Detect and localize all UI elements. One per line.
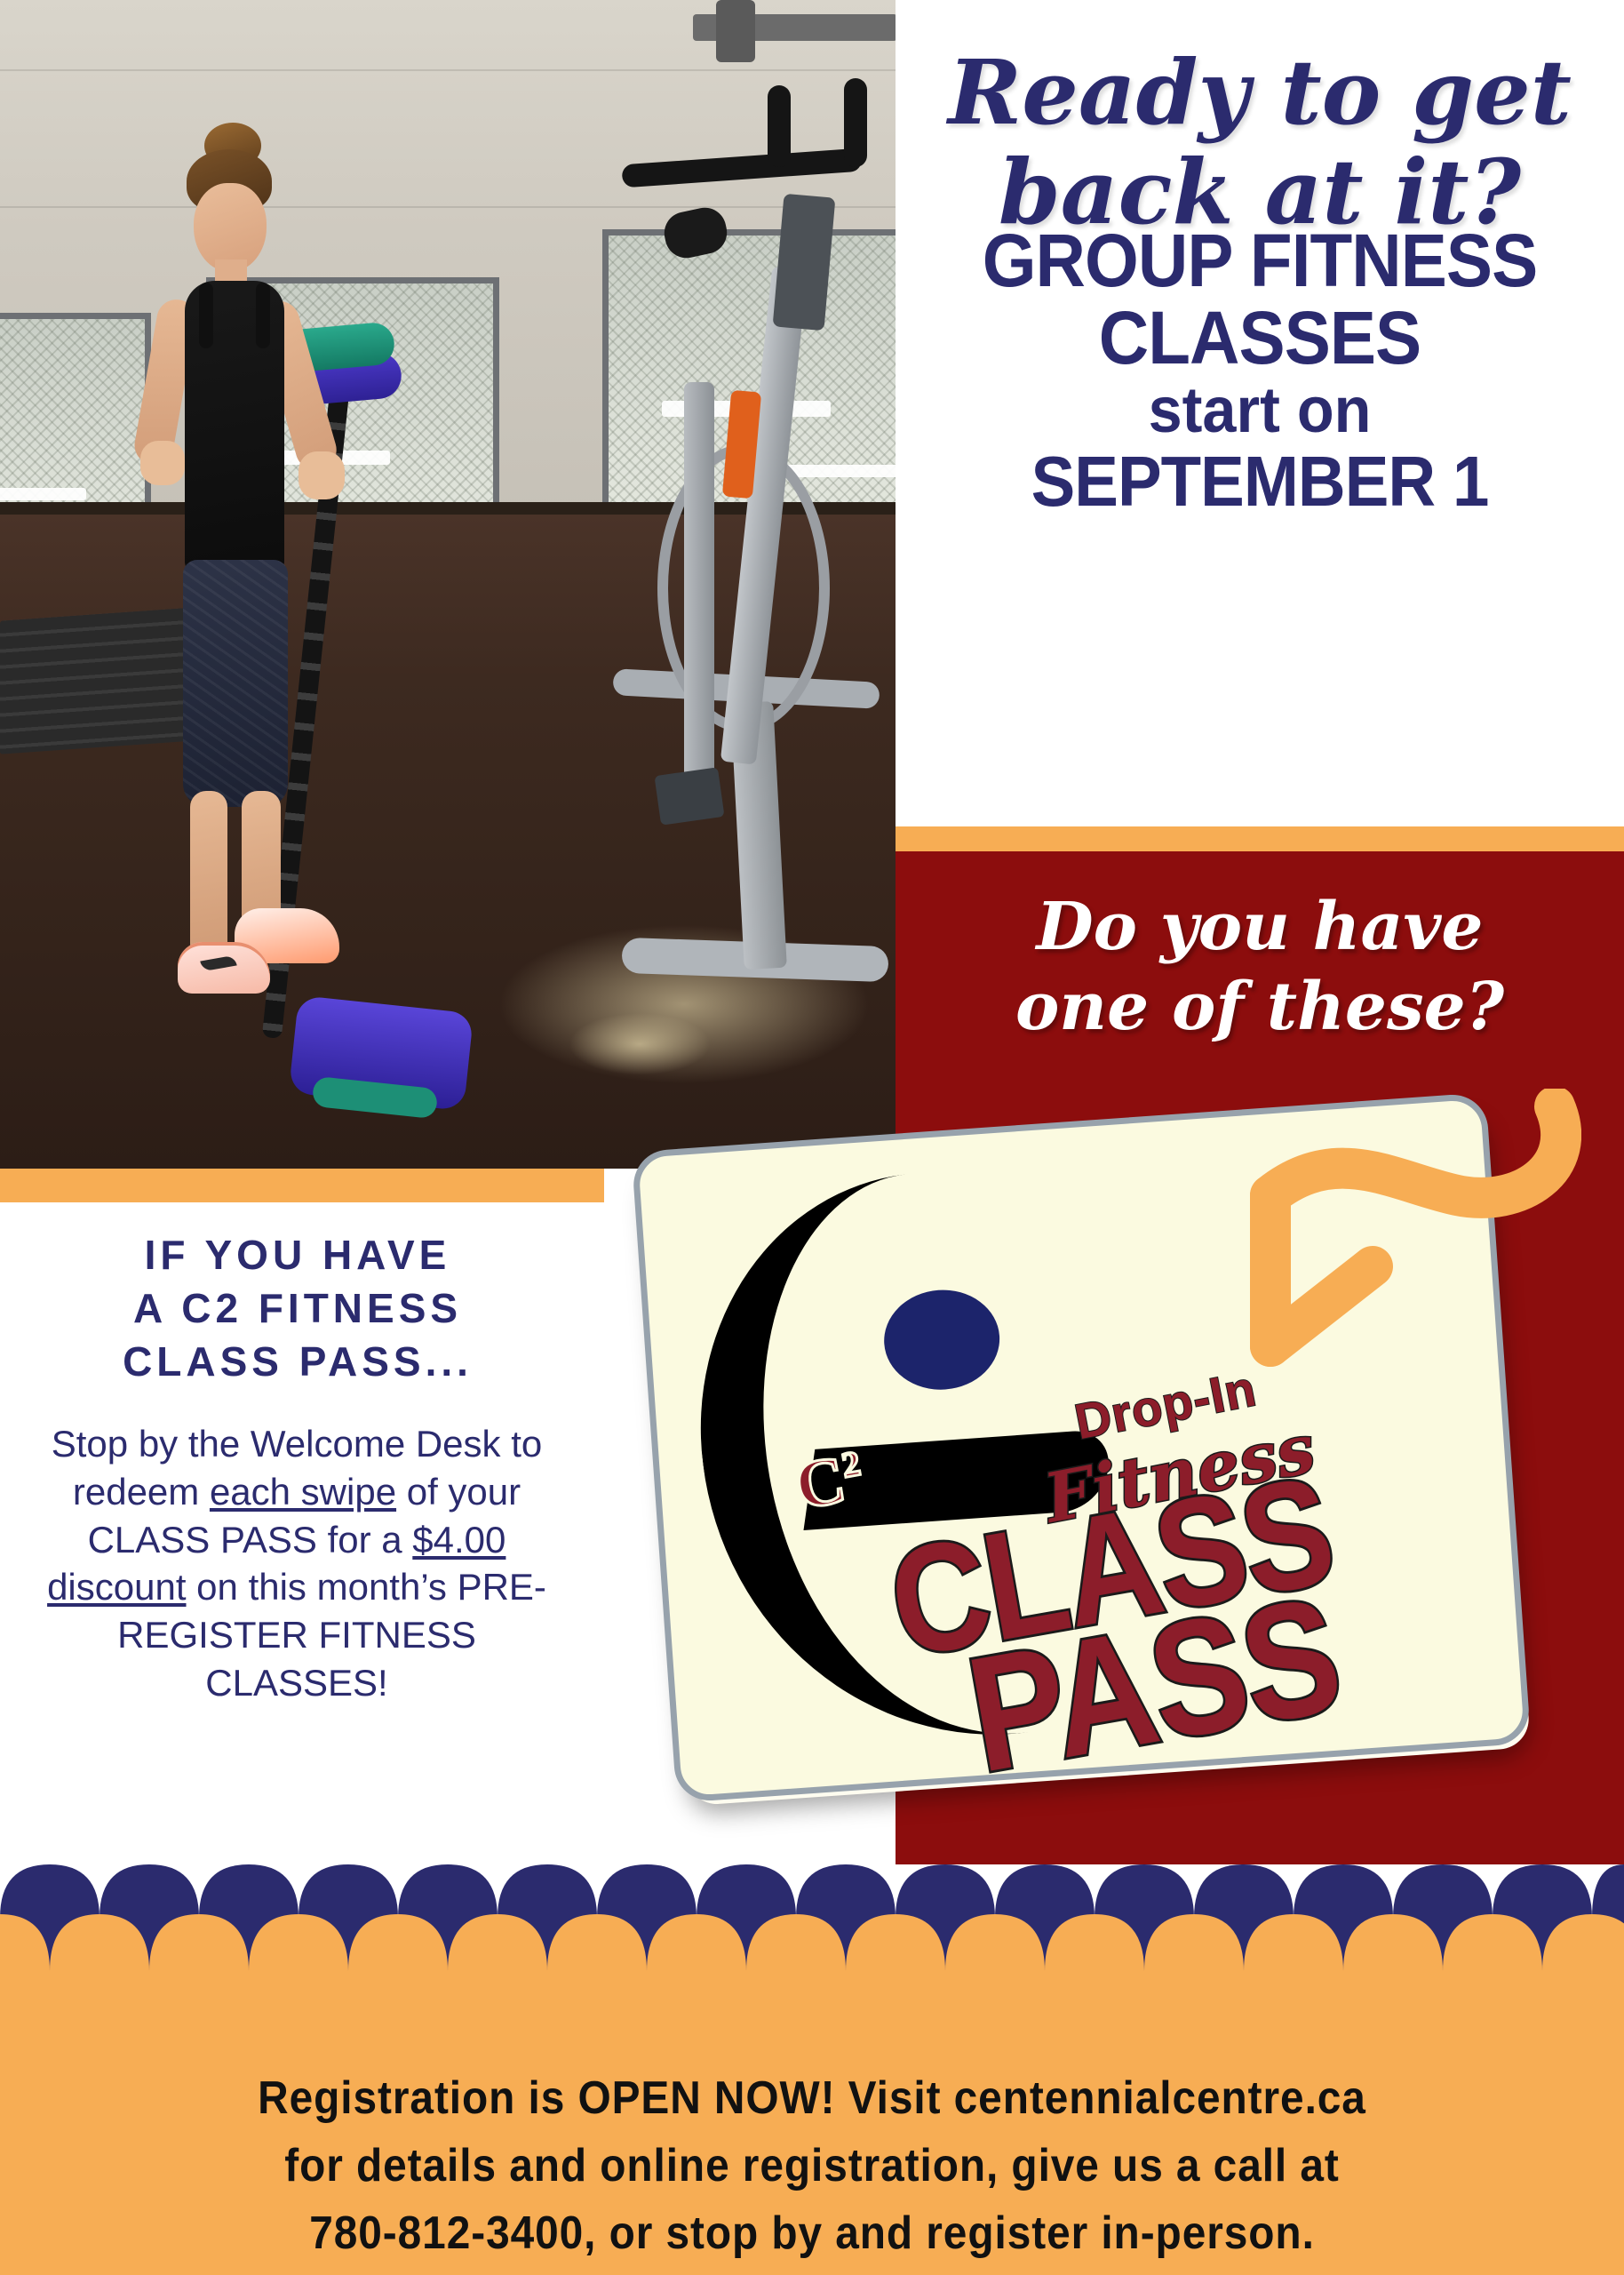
lead-line-2: A C2 FITNESS	[133, 1285, 462, 1331]
class-pass-card-graphic: C2 Drop-In Fitness CLASS PASS	[653, 1122, 1528, 1832]
lead-line-1: IF YOU HAVE	[145, 1232, 451, 1278]
footer-line-1: Registration is OPEN NOW! Visit centenni…	[258, 2072, 1366, 2124]
scalloped-divider	[0, 1864, 1624, 2033]
red-script-line-2: one of these?	[1015, 969, 1504, 1045]
footer-line-2: for details and online registration, giv…	[284, 2140, 1340, 2191]
wall-seam	[0, 69, 896, 71]
footer-banner: Registration is OPEN NOW! Visit centenni…	[0, 2033, 1624, 2275]
footer-text: Registration is OPEN NOW! Visit centenni…	[114, 2065, 1509, 2268]
hero-headline-block: Ready to get back at it? GROUP FITNESS C…	[896, 0, 1624, 826]
red-script-line-1: Do you have	[1036, 889, 1483, 965]
orange-divider-right	[896, 826, 1624, 851]
orange-divider-left	[0, 1169, 604, 1202]
body-underline-each-swipe: each swipe	[210, 1471, 396, 1513]
headline-line-1: GROUP FITNESS	[921, 222, 1599, 299]
info-lead-heading: IF YOU HAVE A C2 FITNESS CLASS PASS...	[27, 1229, 569, 1388]
lead-line-3: CLASS PASS...	[123, 1338, 473, 1385]
fitness-instructor	[108, 142, 375, 1120]
hero-script-heading: Ready to get back at it?	[896, 43, 1624, 242]
wall-vent-box	[716, 0, 755, 62]
gym-photo	[0, 0, 896, 1169]
floor-glare	[569, 1013, 711, 1075]
class-pass-card: C2 Drop-In Fitness CLASS PASS	[632, 1092, 1532, 1802]
headline-line-3: start on	[914, 378, 1606, 444]
fitness-class-poster: Ready to get back at it? GROUP FITNESS C…	[0, 0, 1624, 2275]
info-body-text: Stop by the Welcome Desk to redeem each …	[21, 1420, 572, 1707]
footer-line-3: 780-812-3400, or stop by and register in…	[309, 2207, 1315, 2259]
headline-line-2: CLASSES	[921, 299, 1599, 377]
hero-headline: GROUP FITNESS CLASSES start on SEPTEMBER…	[896, 222, 1624, 518]
headline-line-4: SEPTEMBER 1	[921, 444, 1599, 518]
red-panel-script: Do you have one of these?	[896, 887, 1624, 1048]
hero-script-line-1: Ready to get	[948, 40, 1572, 145]
